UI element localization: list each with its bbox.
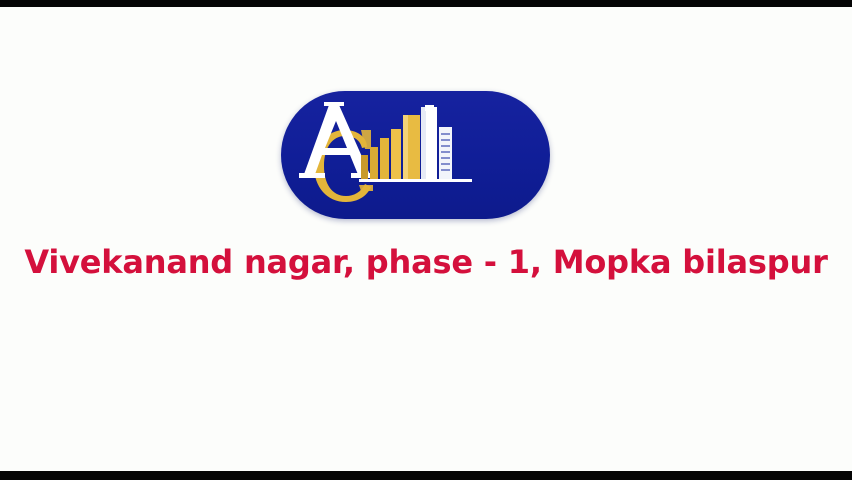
letterbox-top-bar [0,0,852,7]
slide-content-area: Vivekanand nagar, phase - 1, Mopka bilas… [0,7,852,471]
video-frame: Vivekanand nagar, phase - 1, Mopka bilas… [0,0,852,480]
city-buildings-icon [359,105,474,185]
location-caption: Vivekanand nagar, phase - 1, Mopka bilas… [0,243,852,281]
letterbox-bottom-bar [0,471,852,480]
company-logo-badge [281,91,550,219]
